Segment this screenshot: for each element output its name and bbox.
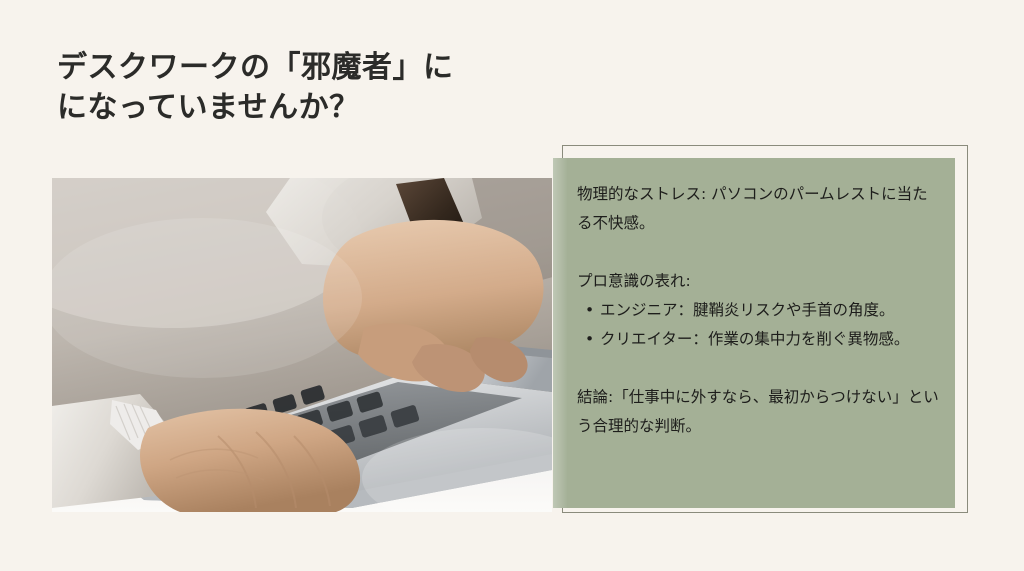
laptop-typing-photo [52, 178, 552, 512]
list-item: • エンジニア：腱鞘炎リスクや手首の角度。 [600, 296, 941, 325]
paragraph-spacer-1 [577, 238, 941, 267]
paragraph-physical-stress: 物理的なストレス: パソコンのパームレストに当たる不快感。 [577, 180, 941, 238]
list-item-label: クリエイター：作業の集中力を削ぐ異物感。 [600, 330, 909, 348]
panel-sheen [553, 158, 567, 508]
list-item-label: エンジニア：腱鞘炎リスクや手首の角度。 [600, 301, 895, 319]
bullet-list: • エンジニア：腱鞘炎リスクや手首の角度。 • クリエイター：作業の集中力を削ぐ… [577, 296, 941, 354]
bullet-dot-icon: • [585, 325, 594, 354]
page-title-line-2: になっていませんか？ [57, 88, 597, 128]
bullet-dot-icon: • [585, 296, 594, 325]
laptop-typing-illustration [52, 178, 552, 512]
page-title: デスクワークの「邪魔者」に になっていませんか？ [57, 48, 597, 128]
paragraph-spacer-2 [577, 354, 941, 383]
heading-professional-awareness: プロ意識の表れ: [577, 267, 941, 296]
page-title-line-1: デスクワークの「邪魔者」に [57, 48, 597, 88]
paragraph-conclusion: 結論:「仕事中に外すなら、最初からつけない」という合理的な判断。 [577, 383, 941, 441]
panel-body-copy: 物理的なストレス: パソコンのパームレストに当たる不快感。 プロ意識の表れ: •… [577, 180, 941, 441]
slide-canvas: デスクワークの「邪魔者」に になっていませんか？ [0, 0, 1024, 571]
list-item: • クリエイター：作業の集中力を削ぐ異物感。 [600, 325, 941, 354]
